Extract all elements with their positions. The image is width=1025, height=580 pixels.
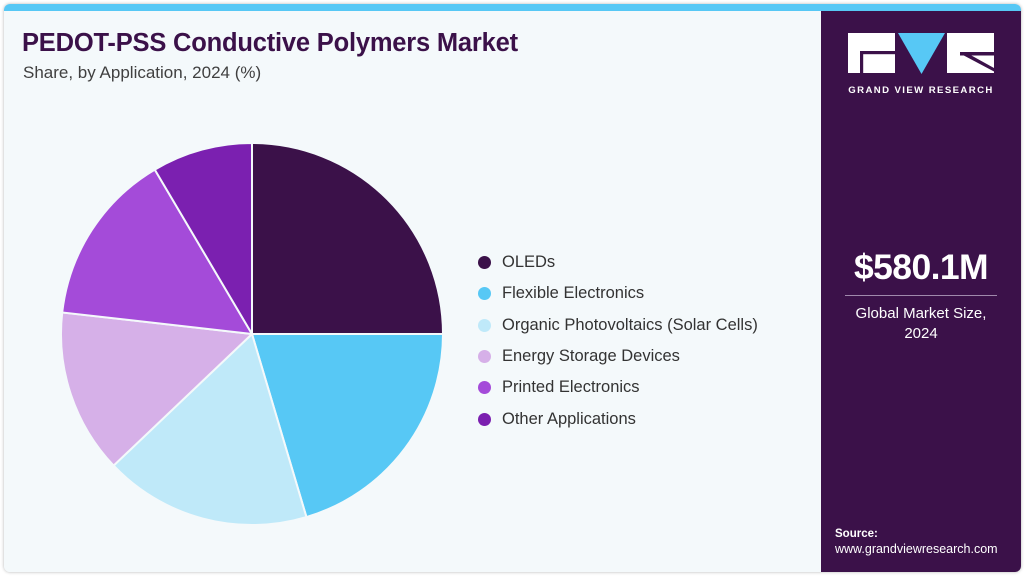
legend-item-label: Energy Storage Devices bbox=[502, 347, 680, 366]
legend-color-swatch-icon bbox=[478, 287, 491, 300]
gvr-logo-mark bbox=[848, 32, 994, 74]
source-title: Source: bbox=[835, 528, 1021, 540]
market-size-stat: $580.1M Global Market Size, 2024 bbox=[821, 249, 1021, 344]
brand-sidebar: GRAND VIEW RESEARCH $580.1M Global Marke… bbox=[821, 11, 1021, 572]
legend-item[interactable]: OLEDs bbox=[478, 247, 758, 278]
stat-divider bbox=[845, 295, 997, 296]
pie-chart bbox=[54, 136, 450, 532]
legend-item-label: Other Applications bbox=[502, 410, 636, 429]
legend-item[interactable]: Flexible Electronics bbox=[478, 278, 758, 309]
market-size-label-line2: 2024 bbox=[904, 325, 937, 342]
pie-slice-group bbox=[61, 143, 443, 525]
market-size-label: Global Market Size, 2024 bbox=[821, 304, 1021, 344]
legend-color-swatch-icon bbox=[478, 319, 491, 332]
legend-item[interactable]: Organic Photovoltaics (Solar Cells) bbox=[478, 310, 758, 341]
legend-item[interactable]: Printed Electronics bbox=[478, 372, 758, 403]
page-subtitle: Share, by Application, 2024 (%) bbox=[23, 63, 261, 83]
legend-item[interactable]: Energy Storage Devices bbox=[478, 341, 758, 372]
pie-chart-svg bbox=[54, 136, 450, 532]
legend-item-label: OLEDs bbox=[502, 253, 555, 272]
source-block: Source: www.grandviewresearch.com bbox=[835, 528, 1021, 556]
legend-color-swatch-icon bbox=[478, 256, 491, 269]
market-size-label-line1: Global Market Size, bbox=[856, 305, 987, 322]
gvr-logo: GRAND VIEW RESEARCH bbox=[821, 32, 1021, 96]
pie-slice[interactable] bbox=[252, 143, 443, 334]
legend-item-label: Printed Electronics bbox=[502, 378, 640, 397]
chart-legend: OLEDsFlexible ElectronicsOrganic Photovo… bbox=[478, 247, 758, 435]
logo-brand-text: GRAND VIEW RESEARCH bbox=[821, 85, 1021, 96]
legend-color-swatch-icon bbox=[478, 350, 491, 363]
logo-letter-g-icon bbox=[848, 33, 895, 73]
legend-color-swatch-icon bbox=[478, 381, 491, 394]
legend-color-swatch-icon bbox=[478, 413, 491, 426]
top-accent-bar bbox=[4, 4, 1021, 11]
legend-item-label: Flexible Electronics bbox=[502, 284, 644, 303]
logo-letter-v-triangle-icon bbox=[898, 33, 945, 74]
legend-item-label: Organic Photovoltaics (Solar Cells) bbox=[502, 316, 758, 335]
market-size-value: $580.1M bbox=[821, 249, 1021, 286]
page-title: PEDOT-PSS Conductive Polymers Market bbox=[22, 29, 518, 58]
legend-item[interactable]: Other Applications bbox=[478, 403, 758, 434]
main-panel: PEDOT-PSS Conductive Polymers Market Sha… bbox=[4, 11, 821, 572]
source-url[interactable]: www.grandviewresearch.com bbox=[835, 542, 1021, 556]
logo-letter-r-icon bbox=[947, 33, 994, 73]
infographic-card: PEDOT-PSS Conductive Polymers Market Sha… bbox=[4, 4, 1021, 572]
